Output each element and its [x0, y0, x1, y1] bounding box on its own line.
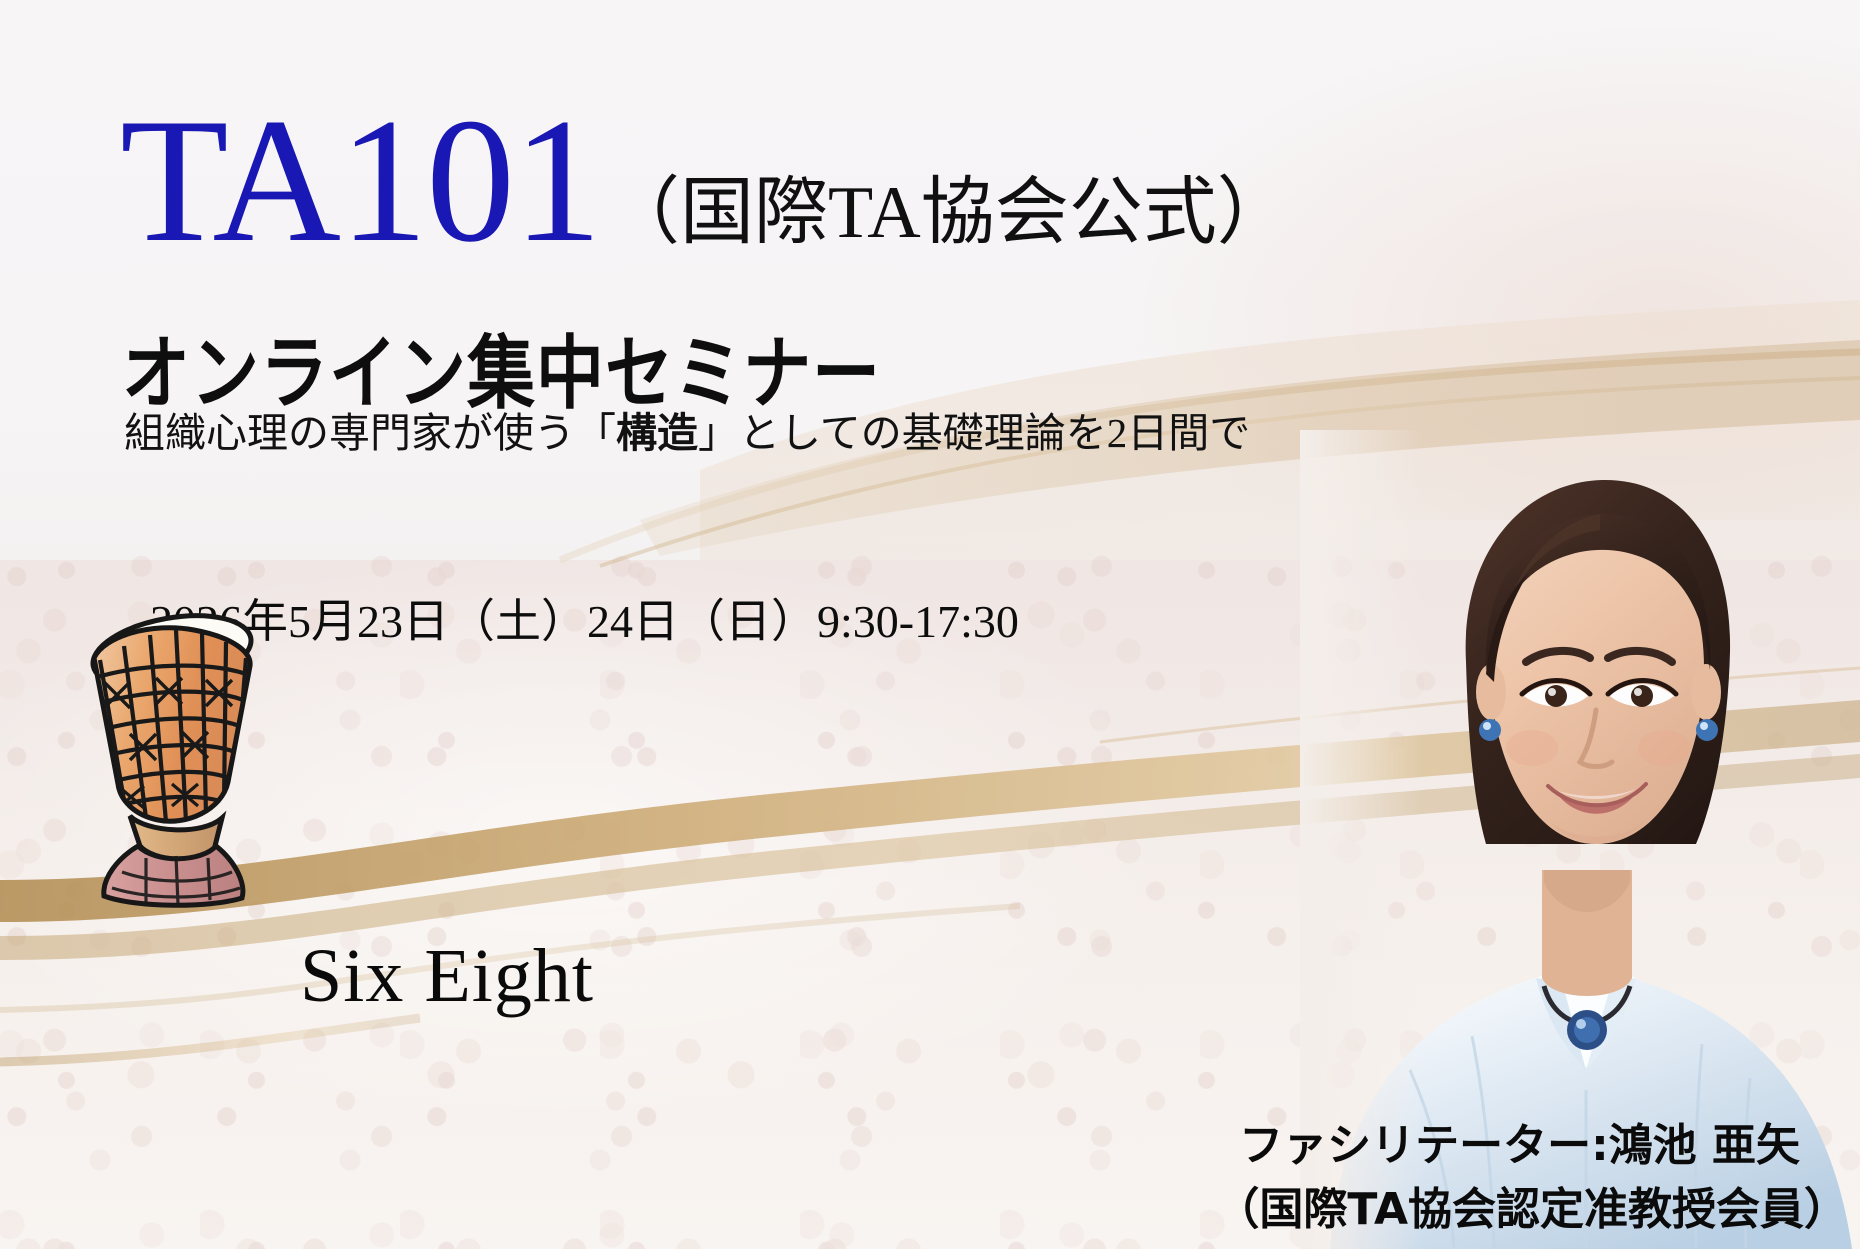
- title-parenthetical: （国際TA協会公式）: [606, 176, 1291, 250]
- poster-title-row: TA101 （国際TA協会公式）: [120, 95, 1291, 266]
- poster-subtitle: オンライン集中セミナー: [122, 335, 881, 415]
- brand-name: Six Eight: [300, 938, 594, 1014]
- tagline-part-before: 組織心理の専門家が使う「: [124, 410, 616, 456]
- poster-tagline: 組織心理の専門家が使う「構造」としての基礎理論を2日間で: [124, 413, 1250, 454]
- facilitator-name: ファシリテーター:鴻池 亜矢: [1239, 1124, 1800, 1168]
- seminar-poster: TA101 （国際TA協会公式） オンライン集中セミナー 組織心理の専門家が使う…: [0, 0, 1860, 1249]
- tagline-emphasis: 構造: [616, 410, 698, 456]
- facilitator-credential: （国際TA協会認定准教授会員）: [1215, 1188, 1848, 1232]
- title-main: TA101: [120, 95, 600, 266]
- djembe-drum-icon: [60, 600, 290, 910]
- tagline-part-after: 」としての基礎理論を2日間で: [698, 410, 1250, 456]
